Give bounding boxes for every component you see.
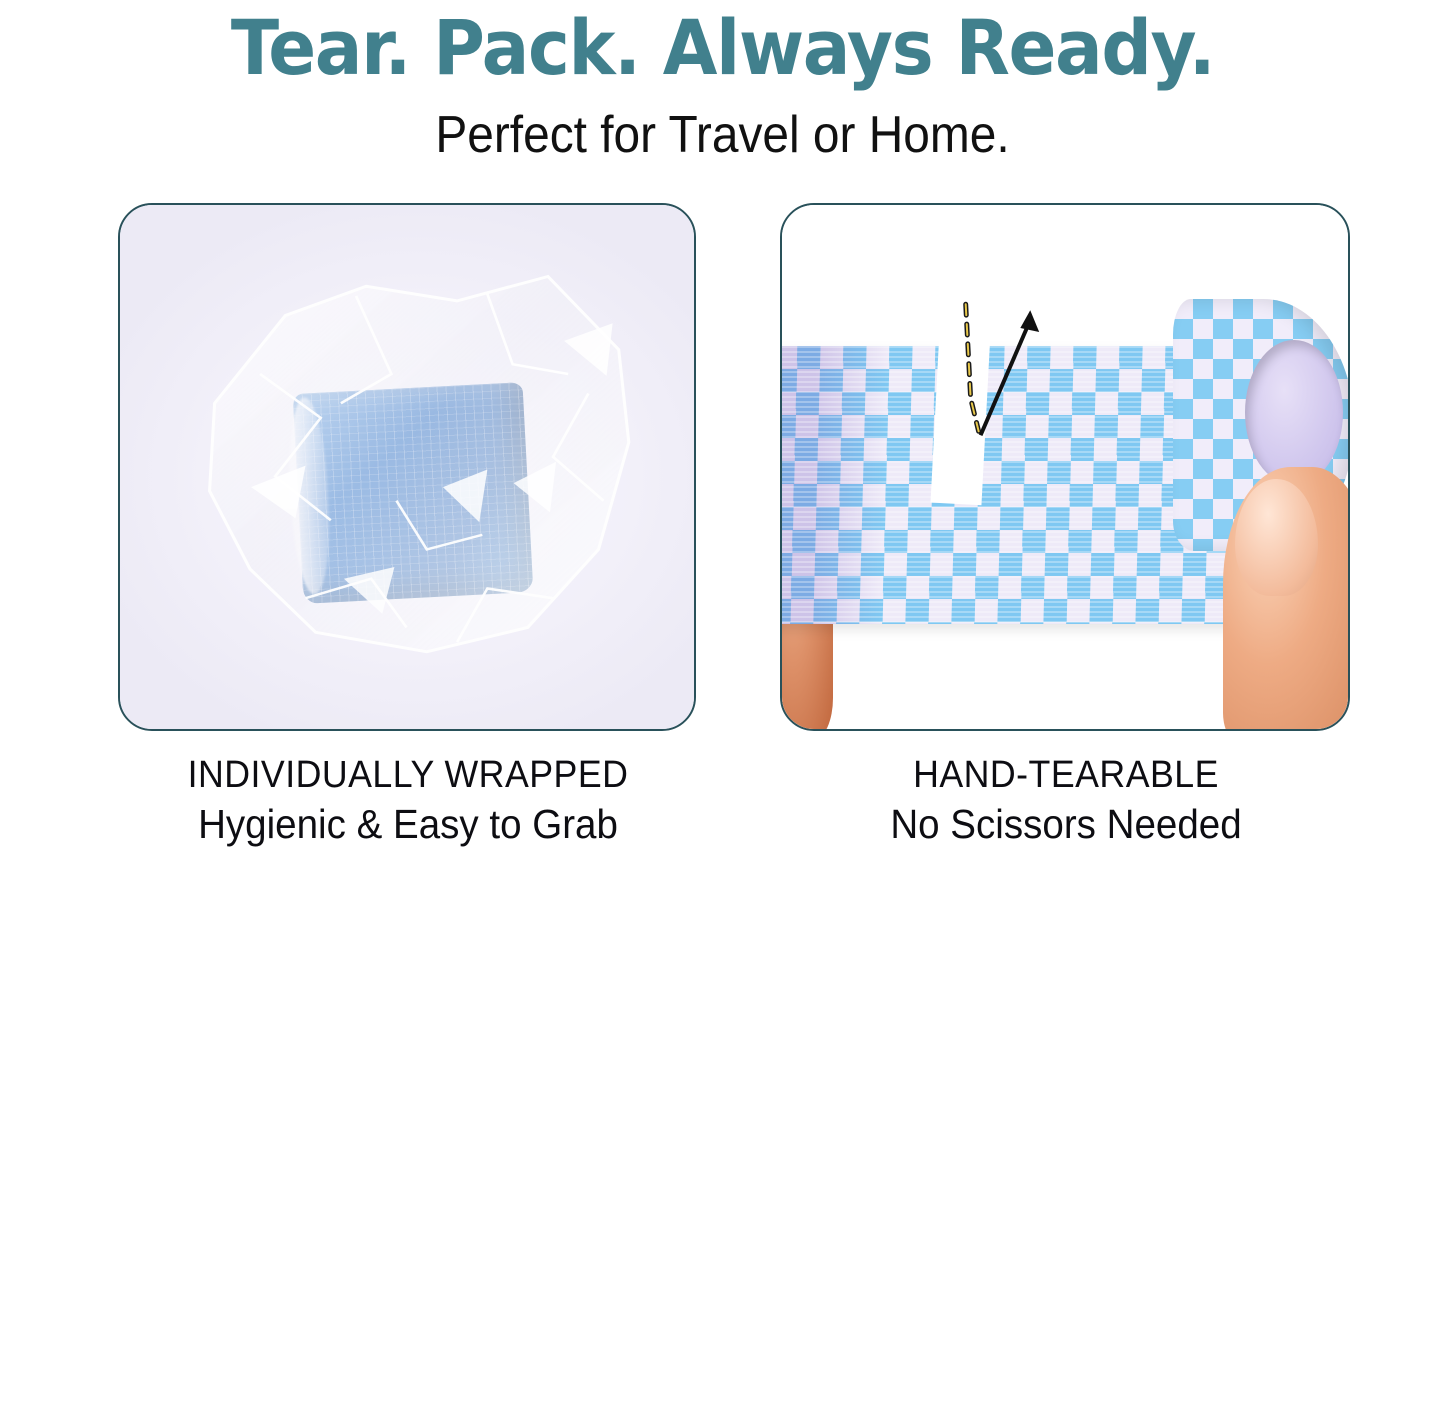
caption-individually-wrapped: INDIVIDUALLY WRAPPED Hygienic & Easy to … [108, 752, 708, 850]
plastic-wrapper [154, 257, 659, 676]
tear-annotation [782, 205, 1348, 729]
panel-hand-tearable [780, 203, 1350, 731]
caption-title: INDIVIDUALLY WRAPPED [126, 752, 690, 798]
feature-card-row: Elastic & Comfortable [0, 900, 1445, 1410]
caption-hand-tearable: HAND-TEARABLE No Scissors Needed [770, 752, 1362, 850]
panel-individually-wrapped [118, 203, 696, 731]
caption-subtitle: No Scissors Needed [788, 798, 1344, 850]
infographic-page: Tear. Pack. Always Ready. Perfect for Tr… [0, 0, 1445, 1410]
caption-title: HAND-TEARABLE [788, 752, 1344, 798]
caption-subtitle: Hygienic & Easy to Grab [126, 798, 690, 850]
